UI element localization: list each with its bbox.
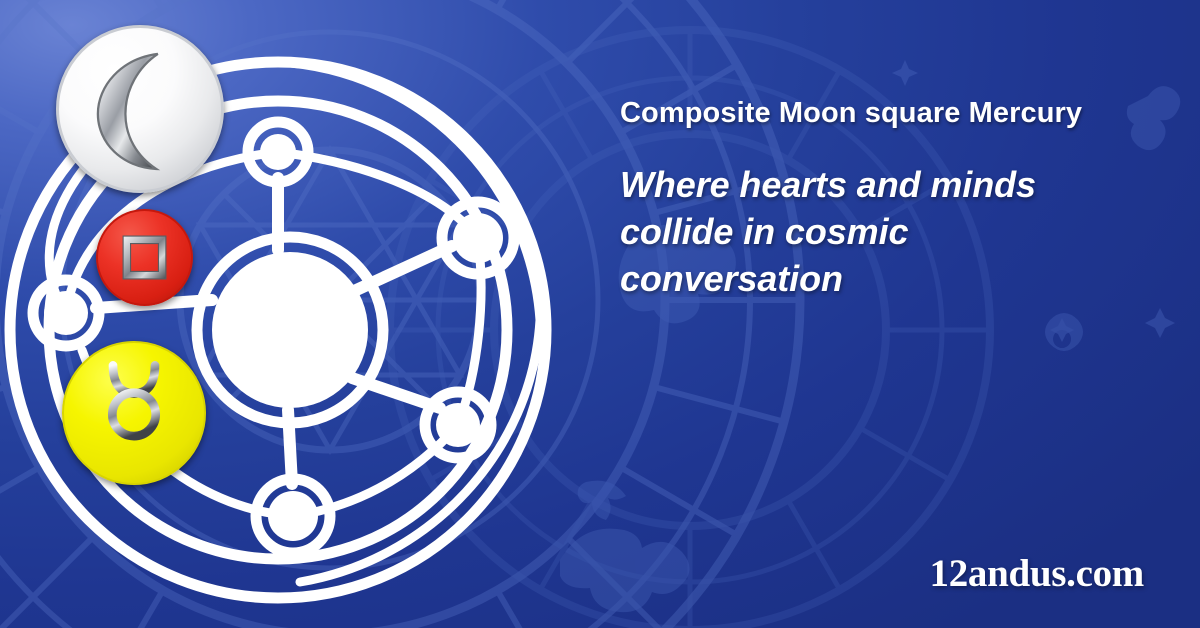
moon-token (56, 25, 224, 193)
square-aspect-token (96, 209, 193, 306)
wheel-node-center (197, 237, 383, 423)
mercury-token (62, 341, 206, 485)
page-title: Composite Moon square Mercury (620, 96, 1160, 130)
astrology-social-card: Composite Moon square Mercury Where hear… (0, 0, 1200, 628)
wheel-node-left (33, 280, 99, 346)
subtitle: Where hearts and minds collide in cosmic… (620, 162, 1125, 302)
crescent-moon-icon (59, 28, 221, 190)
brand-logo[interactable]: 12andus.com (930, 551, 1145, 596)
text-column: Composite Moon square Mercury Where hear… (620, 96, 1160, 303)
square-aspect-icon (98, 211, 191, 304)
mercury-icon (64, 343, 204, 483)
